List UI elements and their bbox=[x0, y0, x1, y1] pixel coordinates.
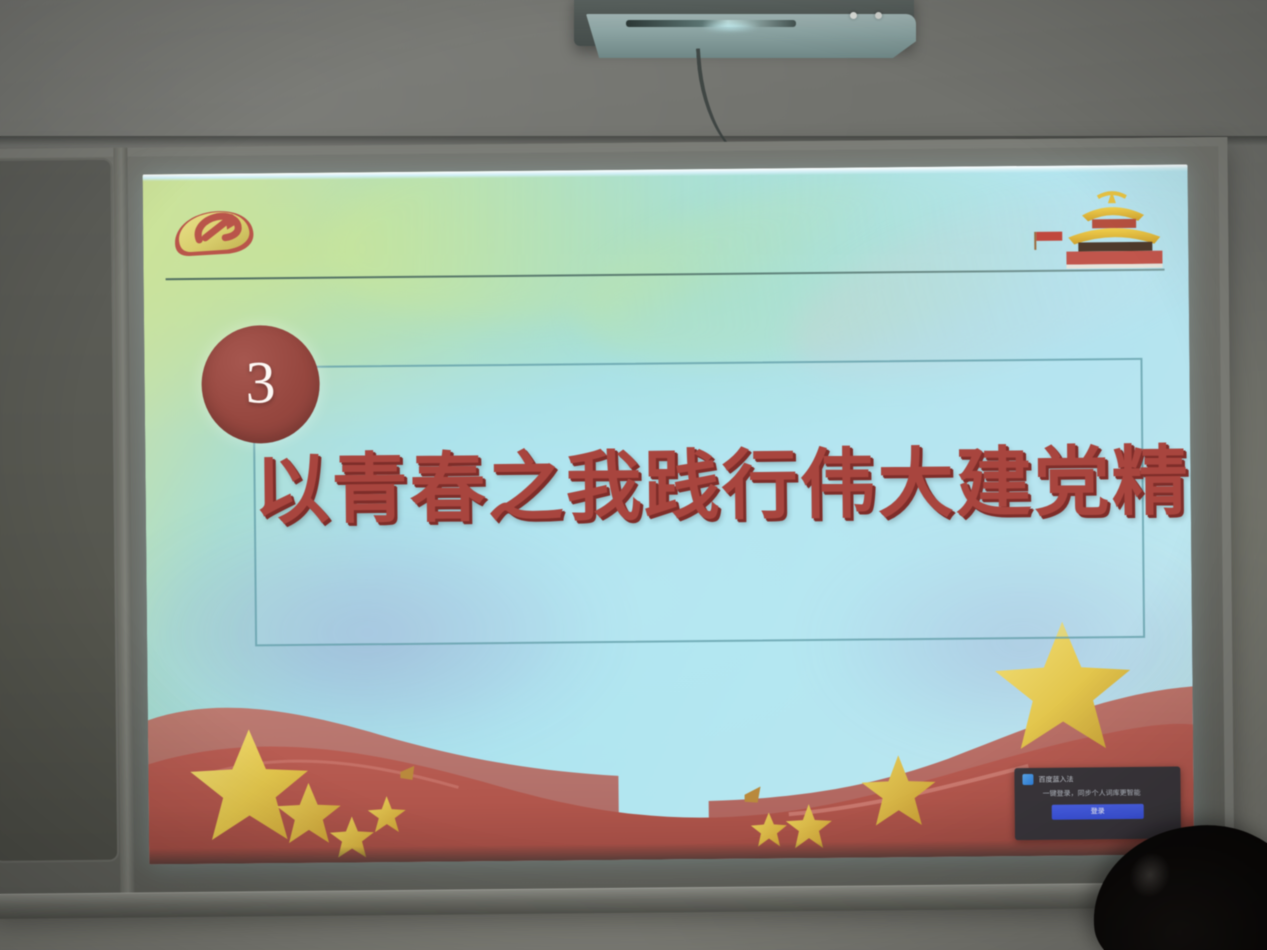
popup-login-button[interactable]: 登录 bbox=[1052, 804, 1144, 820]
ime-notification-popup[interactable]: 百度蓝入法 一键登录，同步个人词库更智能 登录 bbox=[1014, 767, 1181, 841]
slide-title: 以青春之我践行伟大建党精神 bbox=[253, 420, 1144, 539]
projector-light-glow bbox=[700, 22, 760, 32]
popup-header: 百度蓝入法 bbox=[1014, 767, 1180, 788]
ime-app-icon bbox=[1022, 774, 1033, 785]
popup-title: 百度蓝入法 bbox=[1038, 774, 1073, 784]
projector-indicator-icon-1 bbox=[850, 12, 857, 19]
projector-indicator-icon-2 bbox=[875, 12, 882, 19]
whiteboard-assembly: 3 以青春之我践行伟大建党精神 百度蓝入法 一键登录，同步个人词库更智能 登录 bbox=[0, 137, 1235, 915]
slide-section-number-badge: 3 bbox=[201, 325, 320, 444]
projected-slide: 3 以青春之我践行伟大建党精神 百度蓝入法 一键登录，同步个人词库更智能 登录 bbox=[143, 164, 1195, 864]
classroom-photo-scene: 7 7 bbox=[0, 0, 1267, 950]
cpc-party-emblem-icon bbox=[165, 193, 262, 268]
popup-message: 一键登录，同步个人词库更智能 bbox=[1015, 786, 1181, 800]
tiananmen-gate-icon bbox=[1012, 187, 1173, 279]
whiteboard-side-panel bbox=[0, 158, 119, 863]
slide-section-number: 3 bbox=[245, 352, 276, 412]
